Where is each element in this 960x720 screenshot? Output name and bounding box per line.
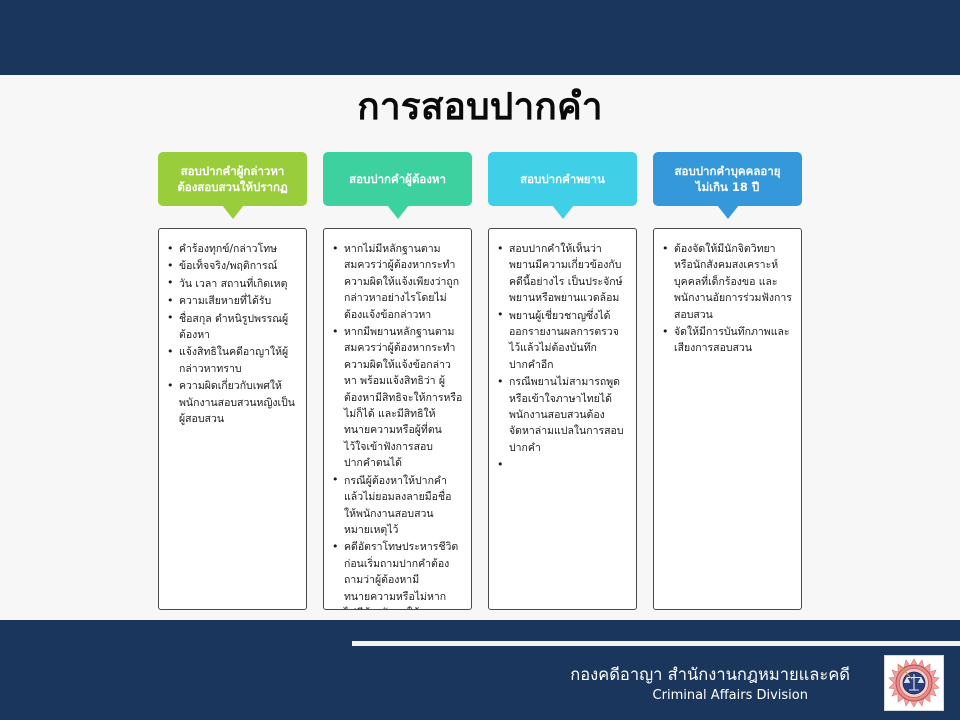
footer-text-block: กองคดีอาญา สำนักงานกฎหมายและคดี Criminal…: [330, 663, 850, 705]
callout-pointer-icon: [717, 205, 739, 219]
list-item: หากมีพยานหลักฐานตามสมควรว่าผู้ต้องหากระท…: [330, 324, 463, 472]
list-item: แจ้งสิทธิในคดีอาญาให้ผู้กล่าวหาทราบ: [165, 344, 298, 377]
list-item: หากไม่มีหลักฐานตามสมควรว่าผู้ต้องหากระทำ…: [330, 241, 463, 323]
bullet-list-witness: สอบปากคำให้เห็นว่า พยานมีความเกี่ยวข้องก…: [495, 241, 628, 471]
list-item: ชื่อสกุล ตำหนิรูปพรรณผู้ต้องหา: [165, 311, 298, 344]
column-witness: สอบปากคำพยาน สอบปากคำให้เห็นว่า พยานมีคว…: [488, 152, 637, 610]
list-item: ความผิดเกี่ยวกับเพศให้พนักงานสอบสวนหญิงเ…: [165, 378, 298, 427]
list-item: ข้อเท็จจริง/พฤติการณ์: [165, 258, 298, 274]
column-header-suspect[interactable]: สอบปากคำผู้ต้องหา: [323, 152, 472, 206]
list-item: คำร้องทุกข์/กล่าวโทษ: [165, 241, 298, 257]
footer-navy-band: กองคดีอาญา สำนักงานกฎหมายและคดี Criminal…: [0, 620, 960, 720]
list-item: กรณีพยานไม่สามารถพูดหรือเข้าใจภาษาไทยได้…: [495, 374, 628, 456]
column-header-line1: สอบปากคำผู้ต้องหา: [349, 171, 446, 187]
criminal-affairs-division-emblem: [884, 655, 944, 711]
column-header-accuser[interactable]: สอบปากคำผู้กล่าวหา ต้องสอบสวนให้ปรากฏ: [158, 152, 307, 206]
column-header-line1: สอบปากคำบุคคลอายุ: [675, 163, 781, 179]
footer-org-thai: กองคดีอาญา สำนักงานกฎหมายและคดี: [330, 663, 850, 686]
columns-container: สอบปากคำผู้กล่าวหา ต้องสอบสวนให้ปรากฏ คำ…: [158, 152, 803, 610]
column-header-witness[interactable]: สอบปากคำพยาน: [488, 152, 637, 206]
column-header-line1: สอบปากคำพยาน: [520, 171, 605, 187]
column-header-text: สอบปากคำผู้กล่าวหา ต้องสอบสวนให้ปรากฏ: [177, 163, 287, 195]
page-title: การสอบปากคำ: [0, 84, 960, 130]
footer-org-english: Criminal Affairs Division: [330, 686, 850, 705]
column-suspect: สอบปากคำผู้ต้องหา หากไม่มีหลักฐานตามสมคว…: [323, 152, 472, 610]
callout-pointer-icon: [552, 205, 574, 219]
list-item: พยานผู้เชี่ยวชาญซึ่งได้ออกรายงานผลการตรว…: [495, 308, 628, 374]
list-item: กรณีผู้ต้องหาให้ปากคำแล้วไม่ยอมลงลายมือช…: [330, 473, 463, 539]
list-item: วัน เวลา สถานที่เกิดเหตุ: [165, 276, 298, 292]
column-accuser: สอบปากคำผู้กล่าวหา ต้องสอบสวนให้ปรากฏ คำ…: [158, 152, 307, 610]
list-item: ความเสียหายที่ได้รับ: [165, 293, 298, 309]
column-header-text: สอบปากคำพยาน: [520, 171, 605, 187]
column-minor: สอบปากคำบุคคลอายุ ไม่เกิน 18 ปี ต้องจัดใ…: [653, 152, 802, 610]
column-header-line1: สอบปากคำผู้กล่าวหา: [177, 163, 287, 179]
bullet-list-suspect: หากไม่มีหลักฐานตามสมควรว่าผู้ต้องหากระทำ…: [330, 241, 463, 610]
footer-divider: [352, 641, 960, 646]
column-header-line2: ไม่เกิน 18 ปี: [675, 179, 781, 195]
list-item: คดีอัตราโทษประหารชีวิตก่อนเริ่มถามปากคำต…: [330, 539, 463, 610]
column-body-minor: ต้องจัดให้มีนักจิตวิทยาหรือนักสังคมสงเคร…: [653, 228, 802, 610]
list-item: ต้องจัดให้มีนักจิตวิทยาหรือนักสังคมสงเคร…: [660, 241, 793, 323]
callout-pointer-icon: [387, 205, 409, 219]
column-body-witness: สอบปากคำให้เห็นว่า พยานมีความเกี่ยวข้องก…: [488, 228, 637, 610]
list-item: จัดให้มีการบันทึกภาพและเสียงการสอบสวน: [660, 324, 793, 357]
list-item: สอบปากคำให้เห็นว่า พยานมีความเกี่ยวข้องก…: [495, 241, 628, 307]
column-body-accuser: คำร้องทุกข์/กล่าวโทษ ข้อเท็จจริง/พฤติการ…: [158, 228, 307, 610]
column-header-minor[interactable]: สอบปากคำบุคคลอายุ ไม่เกิน 18 ปี: [653, 152, 802, 206]
column-body-suspect: หากไม่มีหลักฐานตามสมควรว่าผู้ต้องหากระทำ…: [323, 228, 472, 610]
column-header-text: สอบปากคำบุคคลอายุ ไม่เกิน 18 ปี: [675, 163, 781, 195]
column-header-line2: ต้องสอบสวนให้ปรากฏ: [177, 179, 287, 195]
column-header-text: สอบปากคำผู้ต้องหา: [349, 171, 446, 187]
bullet-list-accuser: คำร้องทุกข์/กล่าวโทษ ข้อเท็จจริง/พฤติการ…: [165, 241, 298, 427]
bullet-list-minor: ต้องจัดให้มีนักจิตวิทยาหรือนักสังคมสงเคร…: [660, 241, 793, 357]
callout-pointer-icon: [222, 205, 244, 219]
top-navy-band: [0, 0, 960, 75]
list-item-empty: [495, 457, 628, 471]
